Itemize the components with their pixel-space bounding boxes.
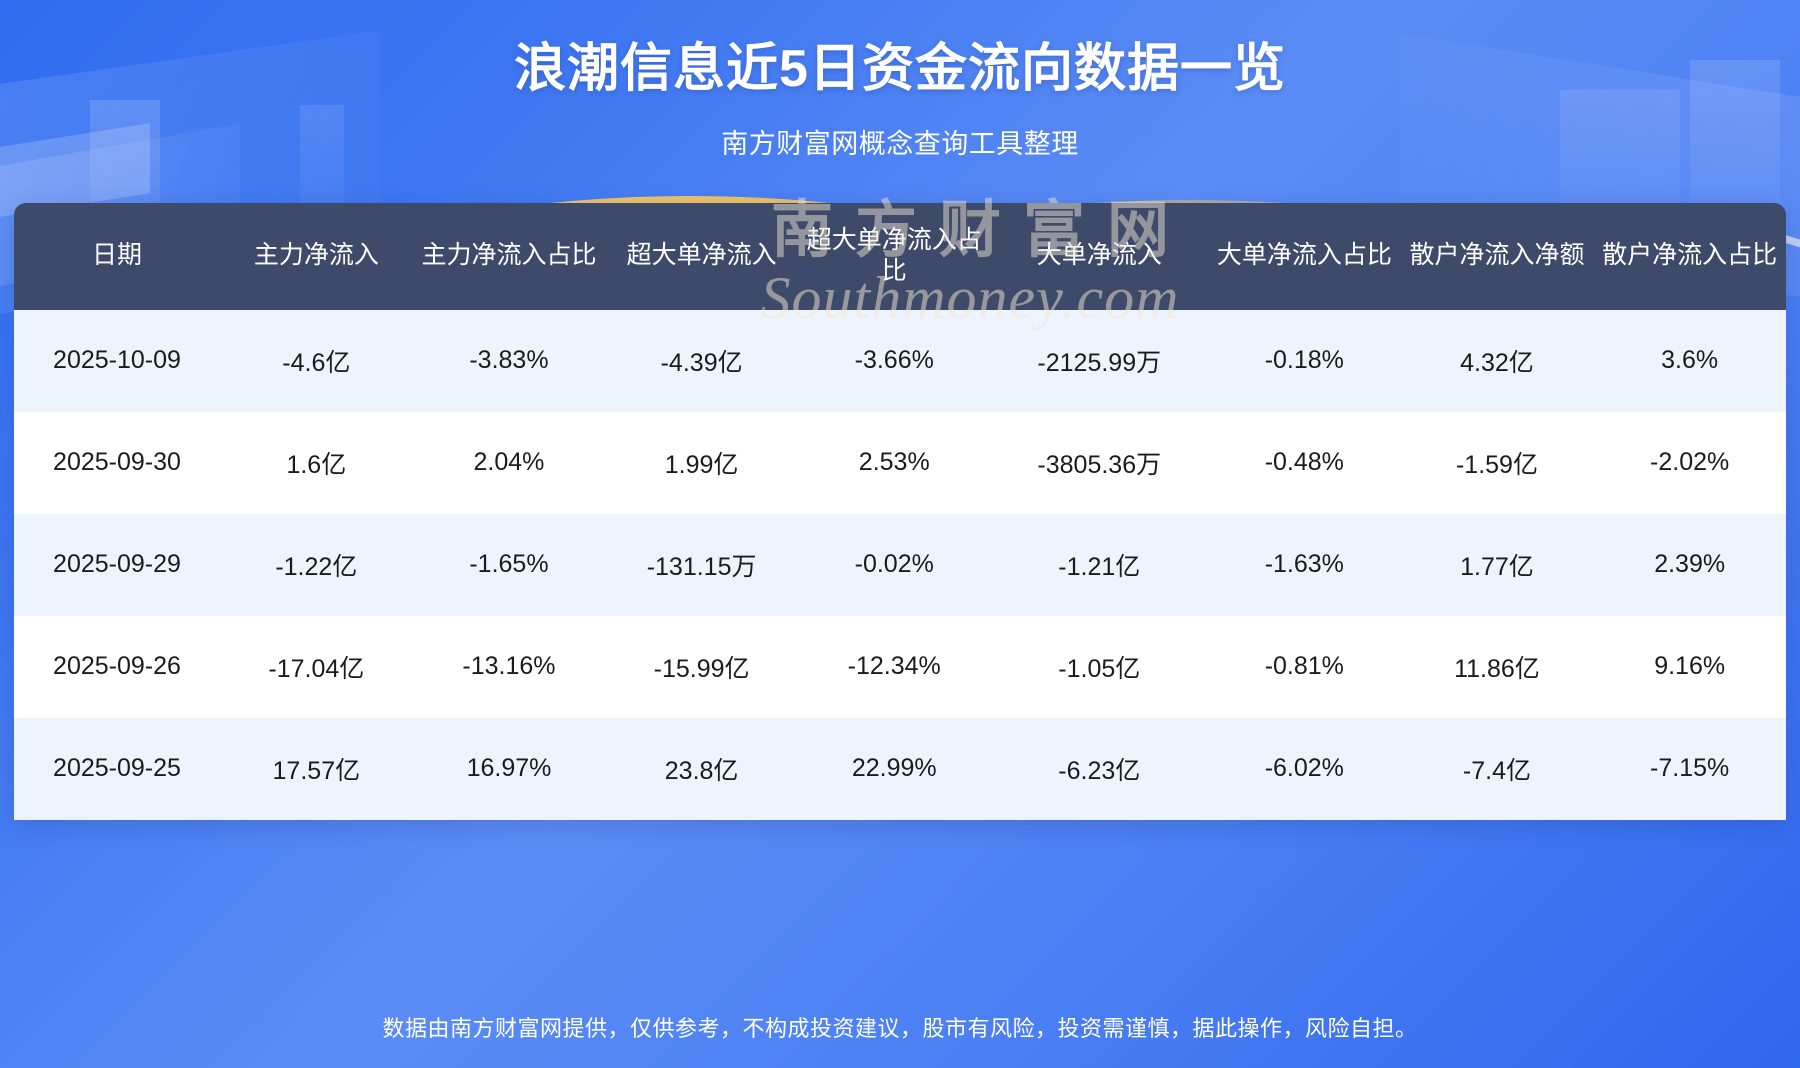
cell-retail-pct: -2.02% [1593,412,1786,514]
column-header-big-net: 大单净流入 [991,203,1208,310]
cell-xl-net: -4.39亿 [605,310,798,412]
column-header-xl-pct: 超大单净流入占比 [798,203,991,310]
cell-retail-pct: 9.16% [1593,616,1786,718]
cell-retail-net: 11.86亿 [1401,616,1594,718]
page-title: 浪潮信息近5日资金流向数据一览 [0,36,1800,104]
cell-xl-pct: 22.99% [798,718,991,820]
cell-date: 2025-09-29 [14,514,220,616]
cell-main-pct: 16.97% [413,718,606,820]
fund-flow-table: 日期 主力净流入 主力净流入占比 超大单净流入 超大单净流入占比 大单净流入 大… [14,203,1786,820]
cell-big-pct: -1.63% [1208,514,1401,616]
cell-big-net: -1.05亿 [991,616,1208,718]
table-row: 2025-09-29 -1.22亿 -1.65% -131.15万 -0.02%… [14,514,1786,616]
cell-date: 2025-09-26 [14,616,220,718]
page-footer: 数据由南方财富网提供，仅供参考，不构成投资建议，股市有风险，投资需谨慎，据此操作… [0,986,1800,1068]
cell-xl-net: 23.8亿 [605,718,798,820]
cell-xl-pct: 2.53% [798,412,991,514]
column-header-retail-net: 散户净流入净额 [1401,203,1594,310]
table-header-row: 日期 主力净流入 主力净流入占比 超大单净流入 超大单净流入占比 大单净流入 大… [14,203,1786,310]
cell-big-net: -6.23亿 [991,718,1208,820]
page-header: 浪潮信息近5日资金流向数据一览 南方财富网概念查询工具整理 [0,0,1800,161]
cell-xl-pct: -12.34% [798,616,991,718]
cell-big-net: -3805.36万 [991,412,1208,514]
cell-xl-pct: -0.02% [798,514,991,616]
footer-disclaimer: 数据由南方财富网提供，仅供参考，不构成投资建议，股市有风险，投资需谨慎，据此操作… [382,1011,1417,1043]
column-header-big-pct: 大单净流入占比 [1208,203,1401,310]
fund-flow-table-card: 日期 主力净流入 主力净流入占比 超大单净流入 超大单净流入占比 大单净流入 大… [14,203,1786,820]
cell-main-pct: -1.65% [413,514,606,616]
column-header-main-pct: 主力净流入占比 [413,203,606,310]
cell-date: 2025-09-25 [14,718,220,820]
cell-main-pct: 2.04% [413,412,606,514]
cell-big-pct: -0.48% [1208,412,1401,514]
cell-main-net: -1.22亿 [220,514,413,616]
table-body: 2025-10-09 -4.6亿 -3.83% -4.39亿 -3.66% -2… [14,310,1786,820]
cell-main-pct: -13.16% [413,616,606,718]
cell-main-net: 1.6亿 [220,412,413,514]
infographic-page: 浪潮信息近5日资金流向数据一览 南方财富网概念查询工具整理 日期 主力净流入 主… [0,0,1800,1068]
cell-date: 2025-09-30 [14,412,220,514]
cell-date: 2025-10-09 [14,310,220,412]
table-row: 2025-09-30 1.6亿 2.04% 1.99亿 2.53% -3805.… [14,412,1786,514]
cell-main-net: 17.57亿 [220,718,413,820]
page-subtitle: 南方财富网概念查询工具整理 [0,122,1800,161]
cell-retail-pct: 3.6% [1593,310,1786,412]
cell-retail-net: -7.4亿 [1401,718,1594,820]
cell-big-net: -2125.99万 [991,310,1208,412]
cell-big-net: -1.21亿 [991,514,1208,616]
cell-xl-net: -131.15万 [605,514,798,616]
table-header: 日期 主力净流入 主力净流入占比 超大单净流入 超大单净流入占比 大单净流入 大… [14,203,1786,310]
column-header-retail-pct: 散户净流入占比 [1593,203,1786,310]
table-row: 2025-09-25 17.57亿 16.97% 23.8亿 22.99% -6… [14,718,1786,820]
cell-main-net: -17.04亿 [220,616,413,718]
table-row: 2025-09-26 -17.04亿 -13.16% -15.99亿 -12.3… [14,616,1786,718]
cell-main-net: -4.6亿 [220,310,413,412]
column-header-main-net: 主力净流入 [220,203,413,310]
cell-retail-pct: -7.15% [1593,718,1786,820]
cell-big-pct: -6.02% [1208,718,1401,820]
column-header-date: 日期 [14,203,220,310]
cell-xl-pct: -3.66% [798,310,991,412]
column-header-xl-net: 超大单净流入 [605,203,798,310]
cell-retail-pct: 2.39% [1593,514,1786,616]
cell-main-pct: -3.83% [413,310,606,412]
cell-xl-net: -15.99亿 [605,616,798,718]
cell-retail-net: -1.59亿 [1401,412,1594,514]
cell-retail-net: 1.77亿 [1401,514,1594,616]
table-row: 2025-10-09 -4.6亿 -3.83% -4.39亿 -3.66% -2… [14,310,1786,412]
cell-big-pct: -0.18% [1208,310,1401,412]
cell-retail-net: 4.32亿 [1401,310,1594,412]
cell-big-pct: -0.81% [1208,616,1401,718]
cell-xl-net: 1.99亿 [605,412,798,514]
